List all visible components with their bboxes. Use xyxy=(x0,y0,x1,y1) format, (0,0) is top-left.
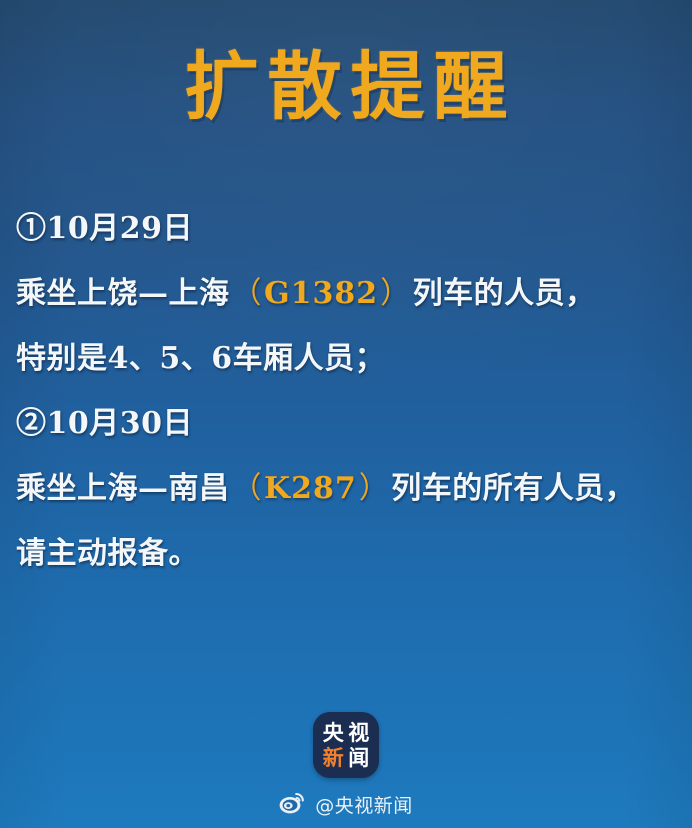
notice-text: 乘坐上海—南昌 xyxy=(16,471,230,506)
notice-text: 特别是4、5、6车厢人员； xyxy=(16,341,385,376)
notice-line-item-2-date: ②10月30日 xyxy=(16,391,680,456)
logo-char-shi: 视 xyxy=(347,721,372,745)
notice-line-item-1-date: ①10月29日 xyxy=(16,196,680,261)
notice-text: 乘坐上饶—上海 xyxy=(16,276,230,311)
logo-char-wen: 闻 xyxy=(347,746,372,770)
notice-text: 列车的人员， xyxy=(413,276,596,311)
poster-canvas: 扩散提醒 ①10月29日 乘坐上饶—上海（G1382）列车的人员， 特别是4、5… xyxy=(0,0,692,828)
train-number: K287 xyxy=(264,471,357,506)
notice-text: 请主动报备。 xyxy=(16,536,199,571)
notice-line-item-2-route: 乘坐上海—南昌（K287）列车的所有人员， xyxy=(16,456,680,521)
bracket: ） xyxy=(357,471,392,506)
cctv-news-logo-icon: 央 视 新 闻 xyxy=(313,712,379,778)
notice-body: ①10月29日 乘坐上饶—上海（G1382）列车的人员， 特别是4、5、6车厢人… xyxy=(16,196,680,586)
notice-text: 列车的所有人员， xyxy=(391,471,635,506)
bracket: （ xyxy=(230,276,265,311)
page-title: 扩散提醒 xyxy=(176,48,517,126)
notice-line-item-2-action: 请主动报备。 xyxy=(16,521,680,586)
brand-logo-container: 央 视 新 闻 xyxy=(0,712,692,778)
notice-text: ②10月30日 xyxy=(16,406,193,441)
bracket: （ xyxy=(230,471,265,506)
notice-line-item-1-detail: 特别是4、5、6车厢人员； xyxy=(16,326,680,391)
weibo-icon xyxy=(279,792,305,814)
train-number: G1382 xyxy=(264,276,378,311)
logo-char-yang: 央 xyxy=(321,721,346,745)
headline-container: 扩散提醒 xyxy=(0,48,692,126)
notice-line-item-1-route: 乘坐上饶—上海（G1382）列车的人员， xyxy=(16,261,680,326)
logo-char-xin: 新 xyxy=(321,746,346,770)
social-handle-text: @央视新闻 xyxy=(315,791,413,818)
logo-character-grid: 央 视 新 闻 xyxy=(321,721,371,769)
bracket: ） xyxy=(378,276,413,311)
notice-text: ①10月29日 xyxy=(16,211,193,246)
social-handle-row: @央视新闻 xyxy=(0,791,692,818)
